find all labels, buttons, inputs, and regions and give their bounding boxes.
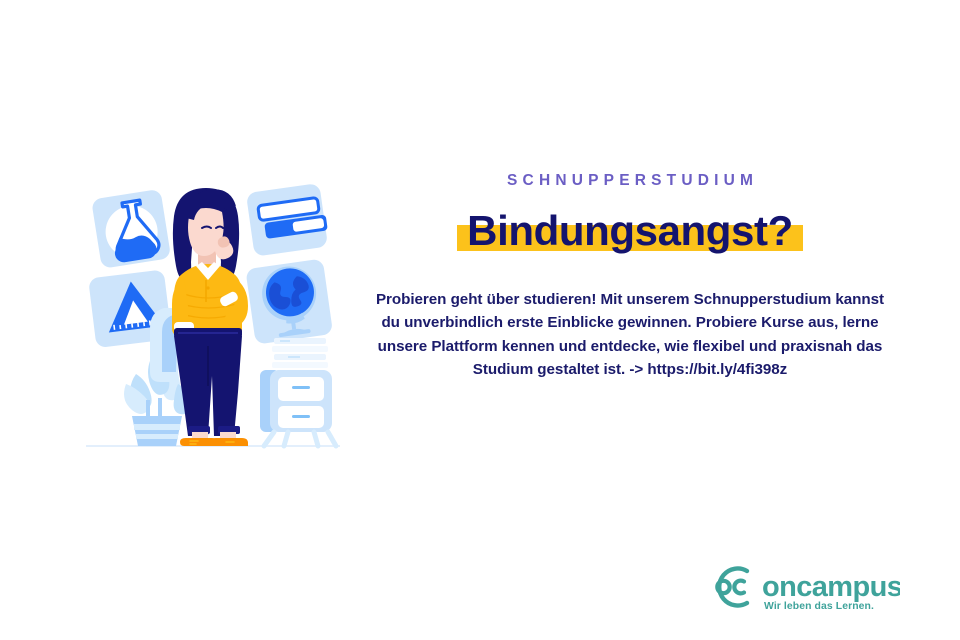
globe-icon-card (245, 259, 333, 345)
flask-icon-card (91, 189, 171, 269)
logo-wordmark: oncampus (762, 571, 900, 603)
books-icon-card (246, 183, 330, 257)
thinking-student-illustration (78, 178, 346, 456)
headline-wrapper: Bindungsangst? (463, 207, 797, 254)
oncampus-logo[interactable]: oncampus Wir leben das Lernen. (704, 562, 900, 616)
eyebrow-label: SCHNUPPERSTUDIUM (360, 172, 900, 191)
logo-tagline: Wir leben das Lernen. (764, 601, 874, 612)
oncampus-circle-mark (717, 569, 747, 606)
filing-cabinet (260, 338, 336, 446)
text-column: SCHNUPPERSTUDIUM Bindungsangst? Probiere… (360, 172, 900, 382)
paper-stack (272, 338, 328, 368)
poster-canvas: SCHNUPPERSTUDIUM Bindungsangst? Probiere… (0, 0, 960, 640)
body-paragraph: Probieren geht über studieren! Mit unser… (372, 288, 888, 382)
page-title: Bindungsangst? (463, 207, 797, 254)
